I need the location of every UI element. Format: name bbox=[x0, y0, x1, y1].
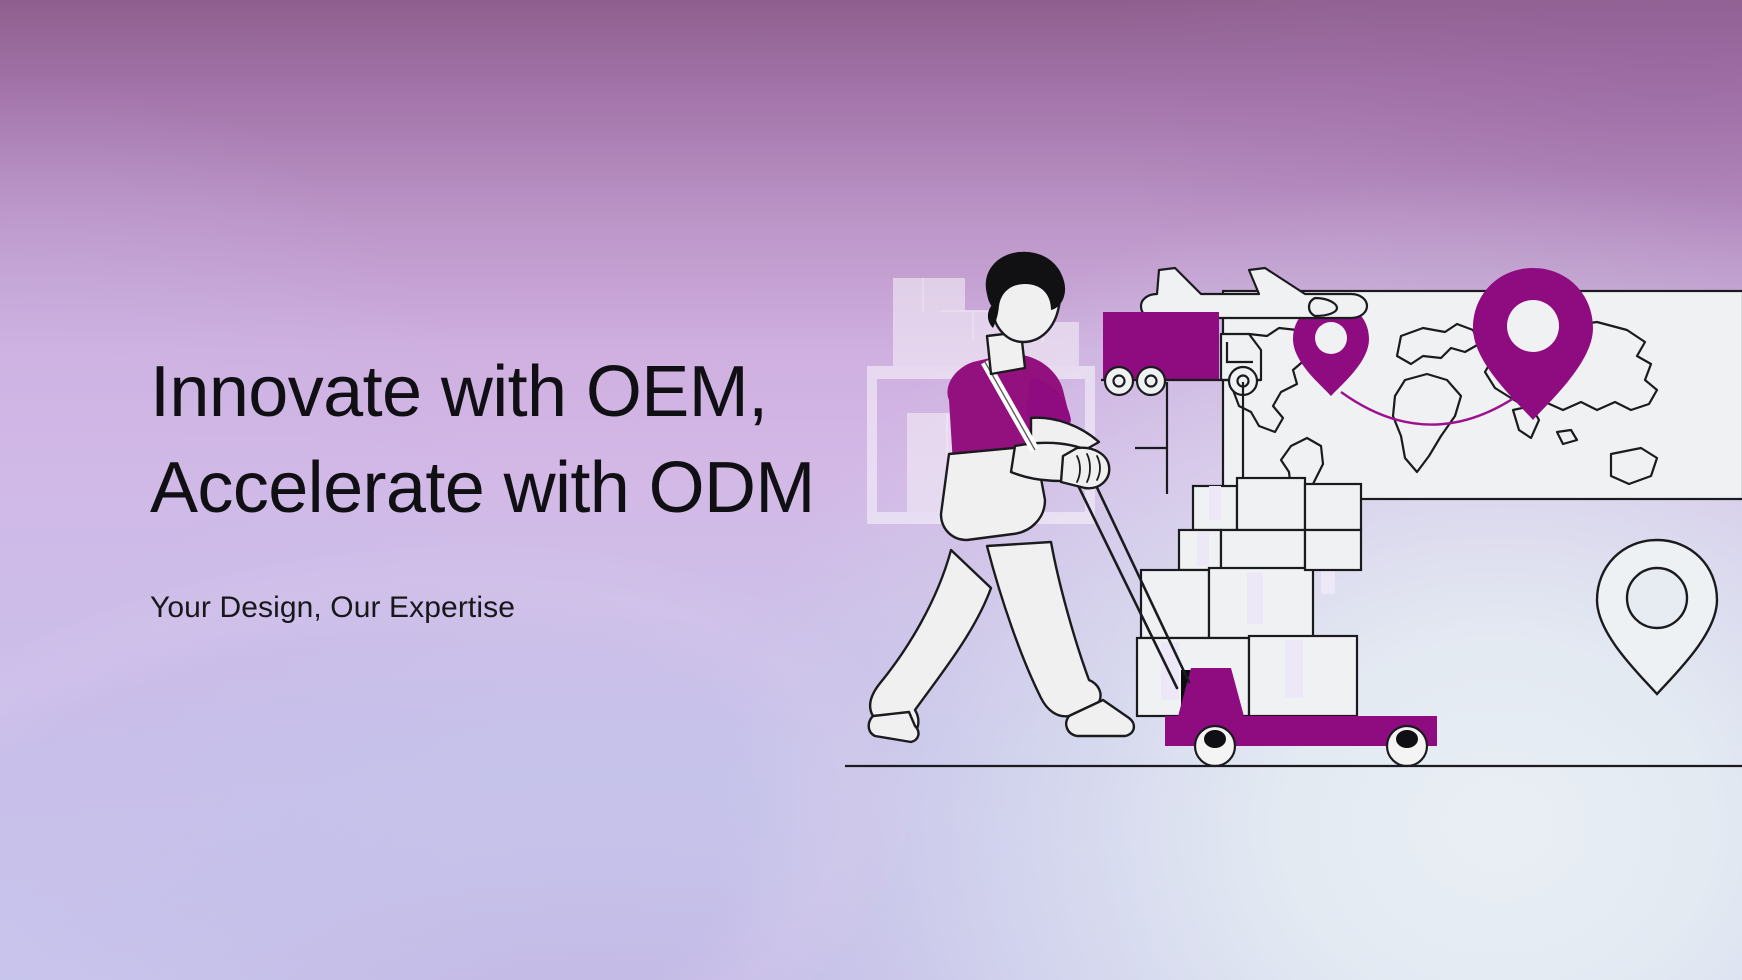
hero-banner: Innovate with OEM, Accelerate with ODM Y… bbox=[0, 0, 1742, 980]
page-subtitle: Your Design, Our Expertise bbox=[150, 536, 910, 627]
logistics-illustration bbox=[845, 250, 1742, 770]
hero-copy: Innovate with OEM, Accelerate with ODM Y… bbox=[150, 344, 910, 627]
box-top-right bbox=[1237, 478, 1305, 530]
box-upper-right-a bbox=[1305, 484, 1361, 530]
worker-shoe-back bbox=[869, 712, 919, 742]
page-title: Innovate with OEM, Accelerate with ODM bbox=[150, 344, 910, 536]
box-upper-right-b bbox=[1305, 530, 1361, 570]
worker-hand bbox=[1061, 448, 1109, 489]
worker-leg-front bbox=[987, 542, 1101, 716]
worker-leg-back bbox=[870, 550, 991, 738]
pallet-stack bbox=[1137, 478, 1361, 716]
box-mid-right bbox=[1221, 530, 1305, 570]
map-pin-outline bbox=[1597, 540, 1717, 694]
